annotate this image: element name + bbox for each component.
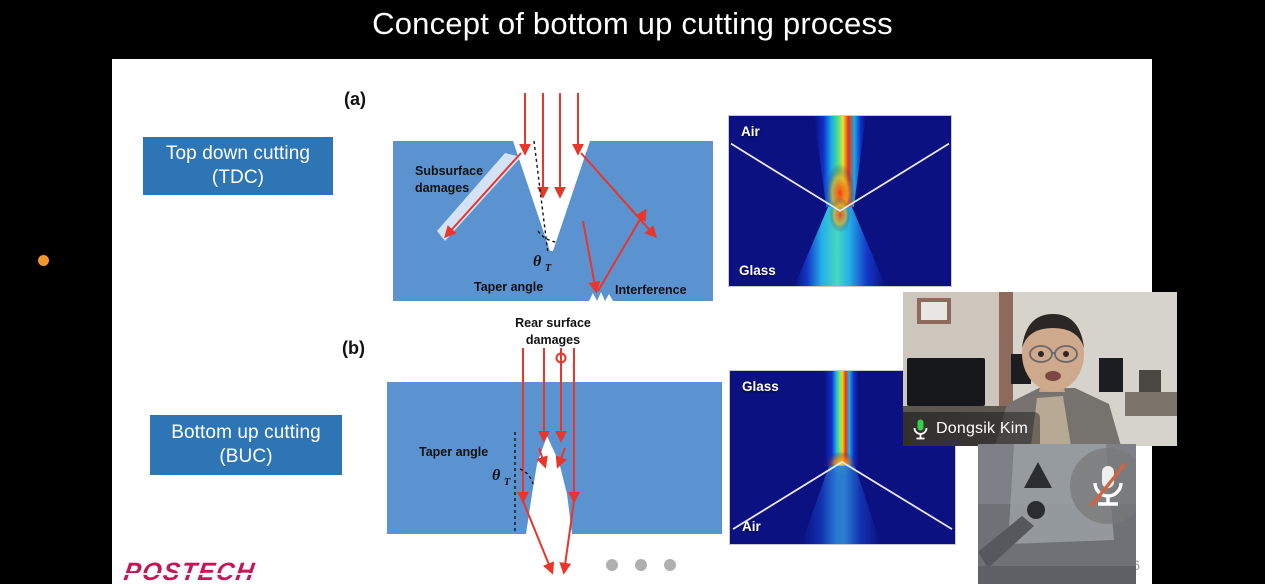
chip-buc-line1: Bottom up cutting [171, 421, 321, 445]
microphone-icon [913, 419, 928, 440]
presentation-title: Concept of bottom up cutting process [0, 6, 1265, 42]
sim-a-label-air: Air [741, 124, 760, 139]
label-bottom-up-cutting: Bottom up cutting (BUC) [150, 415, 342, 475]
postech-logo: POSTECH [122, 558, 257, 584]
chip-tdc-line2: (TDC) [212, 166, 264, 190]
chip-buc-line2: (BUC) [219, 445, 272, 469]
simulation-image-top-down-cutting: Air Glass [728, 115, 952, 287]
sim-a-label-glass: Glass [739, 263, 776, 278]
label-taper-angle-a: Taper angle [474, 280, 543, 294]
laser-pointer-dot [38, 255, 49, 266]
label-theta-subscript-a: T [545, 263, 552, 274]
microphone-muted-icon [1088, 463, 1128, 509]
label-subsurface-line1: Subsurface [415, 164, 483, 178]
panel-letter-b: (b) [342, 338, 365, 359]
chip-tdc-line1: Top down cutting [166, 142, 310, 166]
label-top-down-cutting: Top down cutting (TDC) [143, 137, 333, 195]
label-theta-b: θ [492, 467, 501, 484]
label-theta-a: θ [533, 253, 542, 270]
sim-b-label-glass: Glass [742, 379, 779, 394]
video-tile-dongsik-kim[interactable]: Dongsik Kim [903, 292, 1177, 446]
sim-b-label-air: Air [742, 519, 761, 534]
label-interference: Interference [615, 283, 687, 297]
label-taper-angle-b: Taper angle [419, 445, 488, 459]
muted-indicator [1070, 448, 1136, 524]
label-theta-subscript-b: T [504, 477, 511, 488]
meeting-screen-share-view: Concept of bottom up cutting process (a)… [0, 0, 1265, 584]
participant-name-label: Dongsik Kim [936, 420, 1028, 438]
label-subsurface-line2: damages [415, 181, 469, 195]
participant-name-bar: Dongsik Kim [903, 412, 1040, 446]
label-rear-surface-line1: Rear surface [515, 316, 591, 330]
slide-decoration-dots [606, 559, 676, 571]
panel-letter-a: (a) [344, 89, 366, 110]
schematic-top-down-cutting: Subsurface damages θ T Taper angle Inter… [393, 91, 713, 353]
video-tile-secondary[interactable] [978, 444, 1136, 584]
dot-1 [606, 559, 618, 571]
dot-2 [635, 559, 647, 571]
schematic-bottom-up-cutting: Taper angle θ T [387, 344, 722, 584]
dot-3 [664, 559, 676, 571]
